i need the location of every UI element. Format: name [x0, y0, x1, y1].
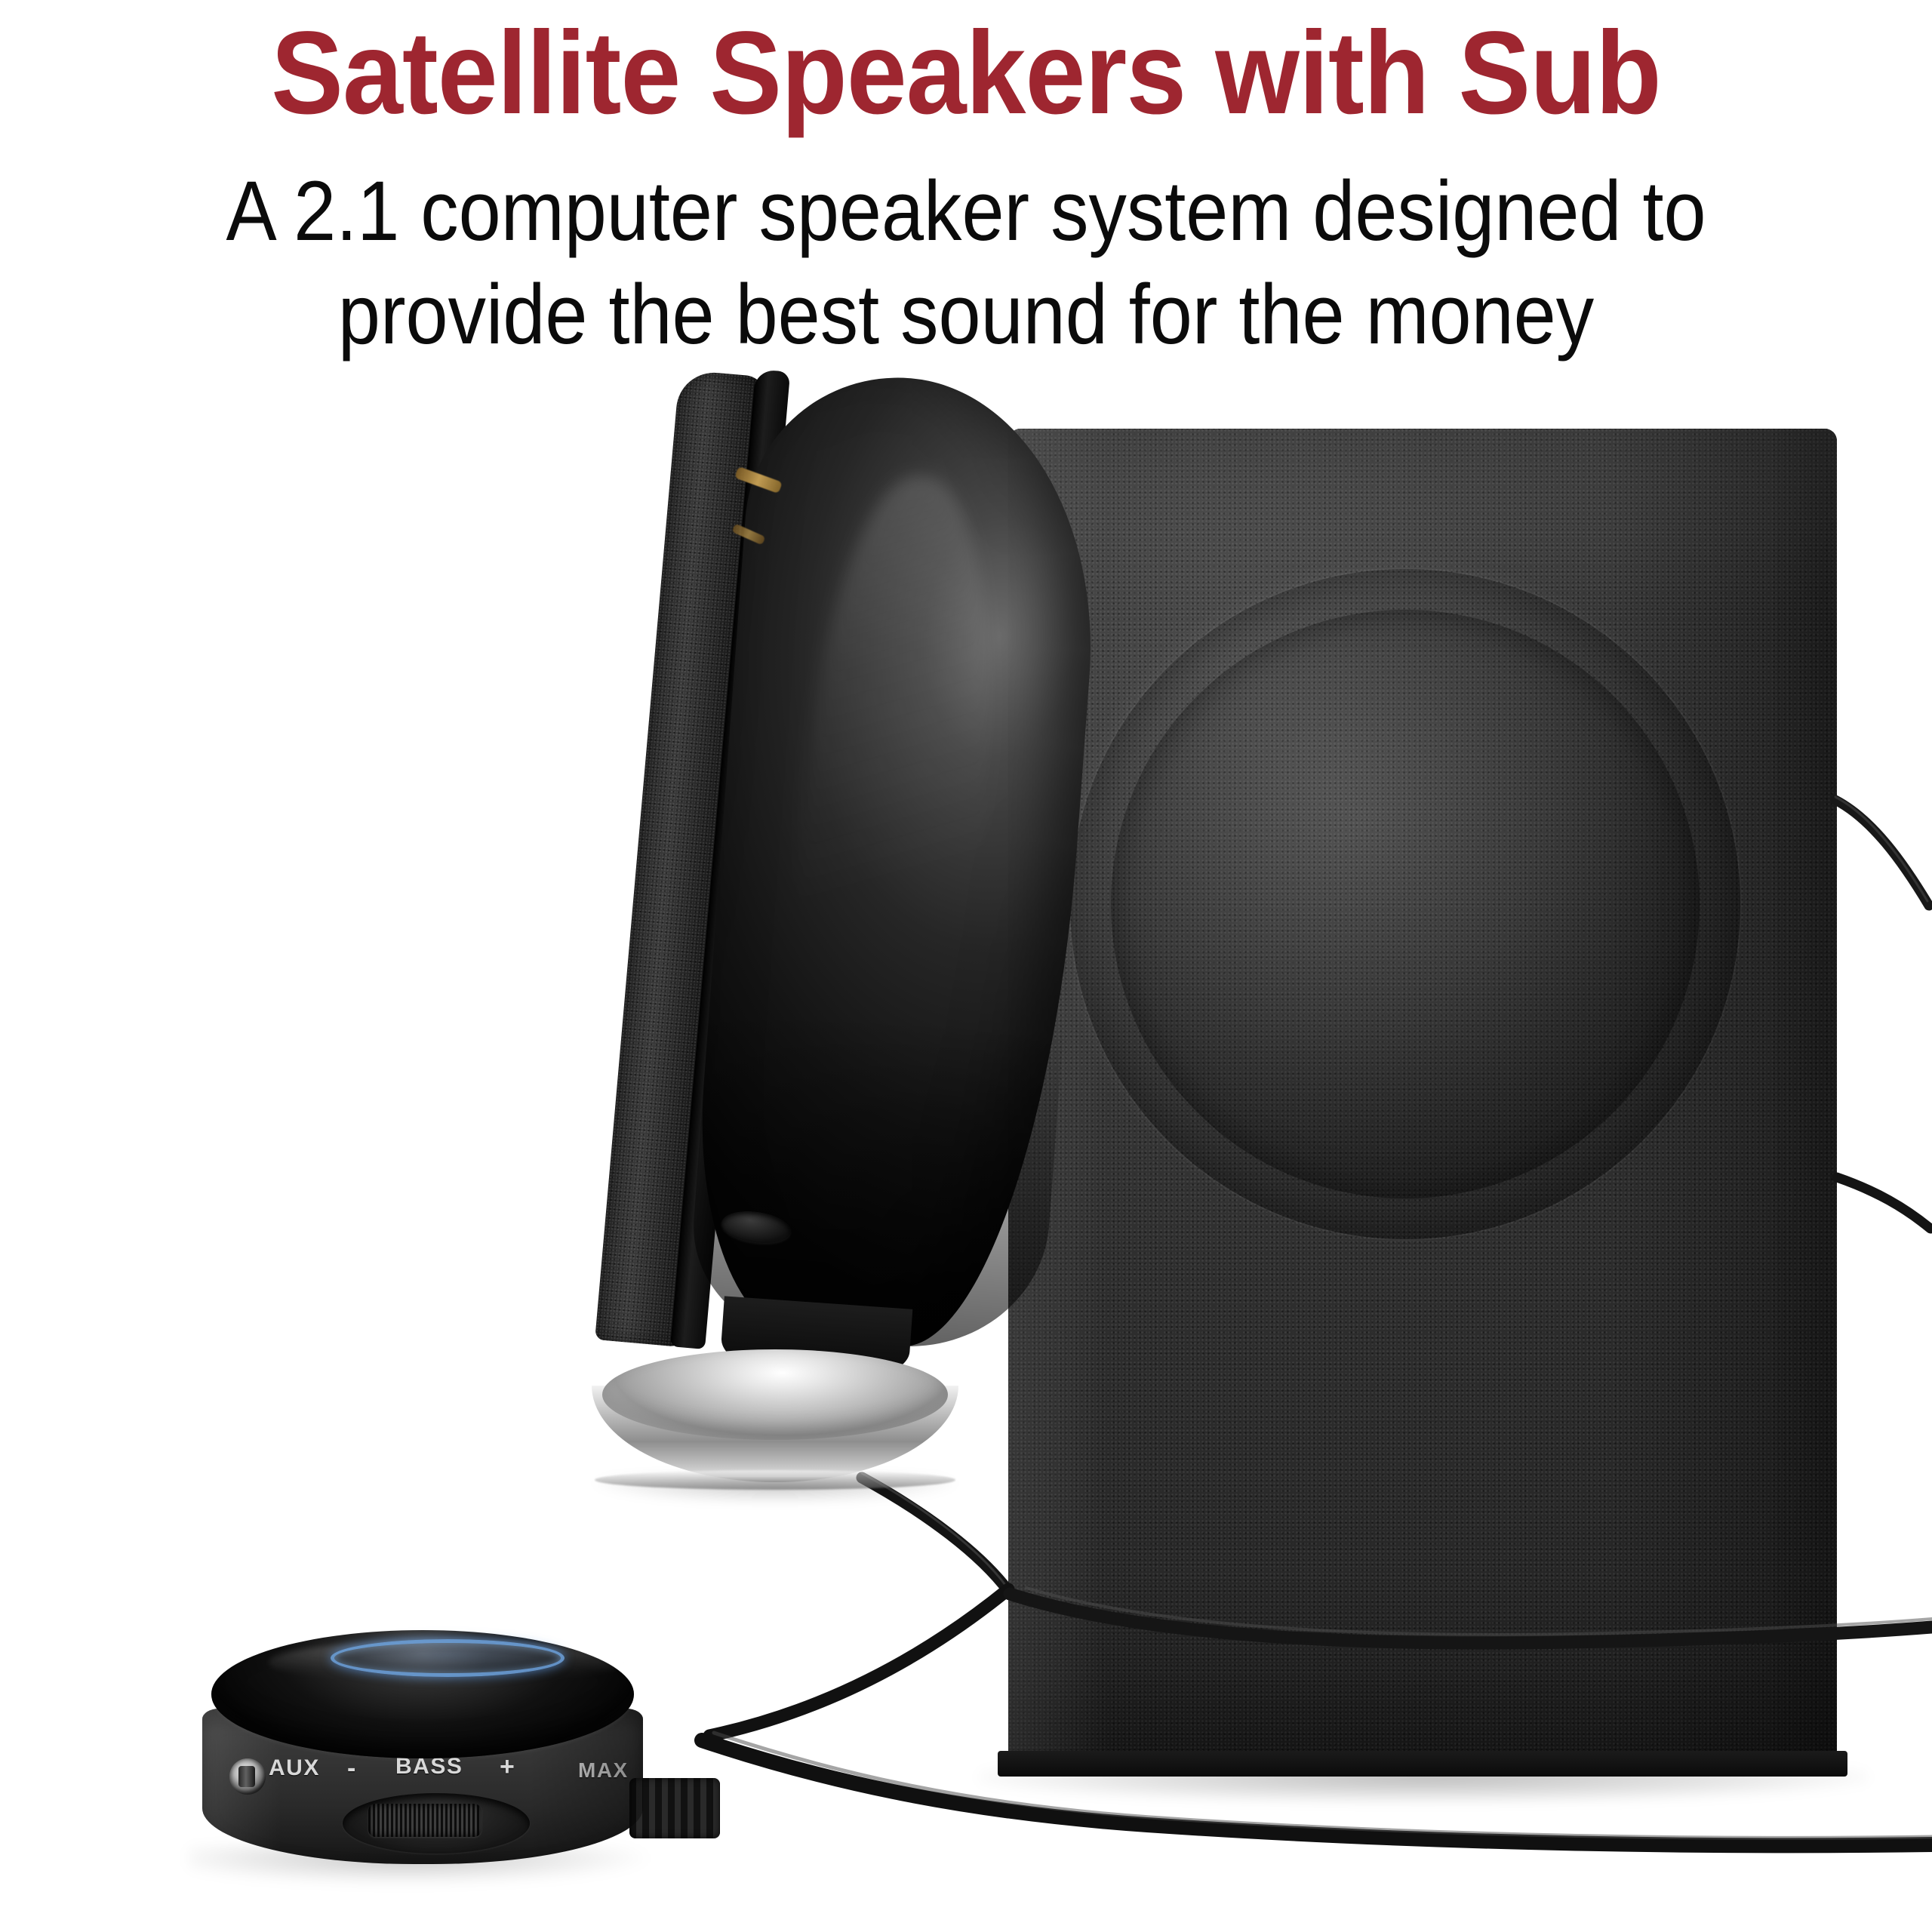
product-photo: AUX - BASS + MAX [0, 377, 1932, 1932]
subtitle-line-1: A 2.1 computer speaker system designed t… [97, 160, 1835, 263]
cable-strain-relief [629, 1778, 720, 1838]
subtitle-line-2: provide the best sound for the money [97, 263, 1835, 367]
satellite-base-rim [595, 1470, 955, 1490]
bass-minus-label: - [347, 1754, 357, 1783]
subwoofer [1008, 429, 1837, 1757]
satellite-enclosure-body [686, 367, 1110, 1356]
bass-slider-recess [343, 1793, 530, 1854]
marketing-text-block: Satellite Speakers with Sub A 2.1 comput… [0, 0, 1932, 377]
subwoofer-driver-cone [1070, 569, 1740, 1239]
max-label: MAX [578, 1758, 629, 1783]
satellite-base-top [602, 1349, 948, 1440]
cable-sub-right-upper-highlight [1835, 797, 1927, 901]
aux-jack[interactable] [229, 1758, 266, 1795]
satellite-stand-base [587, 1349, 963, 1494]
cable-sub-right-lower [1837, 1177, 1930, 1229]
page-title: Satellite Speakers with Sub [77, 14, 1854, 134]
cable-sub-right-upper [1835, 800, 1929, 906]
power-led-ring-icon [331, 1639, 565, 1677]
subwoofer-cabinet [1008, 429, 1837, 1757]
bass-plus-label: + [500, 1752, 515, 1782]
bass-thumbwheel[interactable] [368, 1804, 481, 1837]
page-subtitle: A 2.1 computer speaker system designed t… [97, 160, 1835, 366]
control-pod[interactable]: AUX - BASS + MAX [189, 1630, 657, 1887]
subwoofer-foot-plinth [998, 1751, 1847, 1777]
satellite-speaker [574, 362, 1102, 1841]
volume-knob-top[interactable] [211, 1630, 634, 1758]
aux-label: AUX [269, 1755, 320, 1781]
